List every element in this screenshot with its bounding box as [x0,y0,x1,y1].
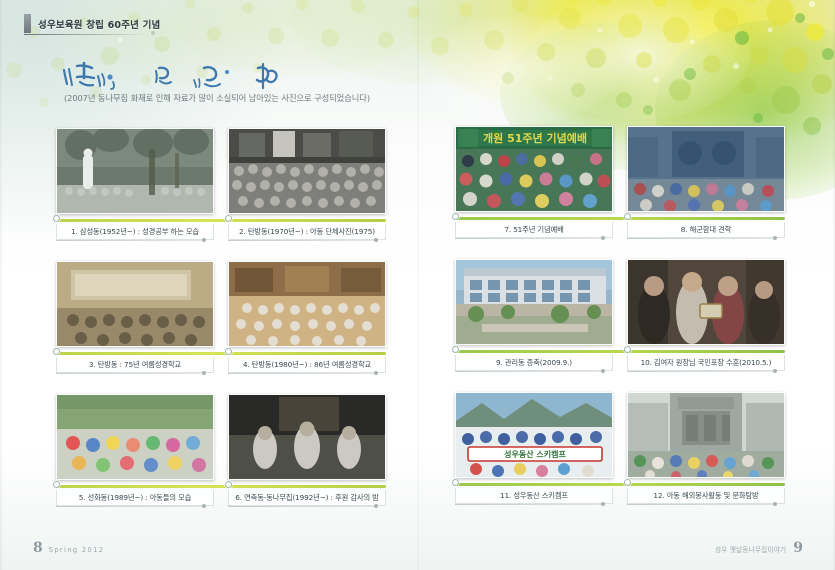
footer-label-left: Spring 2012 [49,546,105,554]
photo-caption: 4. 탄방동(1980년~) : 86년 여름성경학교 [243,360,371,370]
caption-tail-dot-icon [374,371,378,375]
photo-item-5[interactable]: 5. 선화동(1989년~) : 아동들의 모습 [56,394,214,480]
photo-row: 성우동산 스키캠프 11. 성우동산 스키캠프 [455,392,785,525]
timeline-line [56,219,386,222]
header-ribbon-dot-icon [151,31,155,35]
photo-caption: 5. 선화동(1989년~) : 아동들의 모습 [79,493,192,503]
photo-thumbnail[interactable] [56,128,214,214]
page-number-right: 9 [793,540,803,556]
footer-label-right: 성우 옛날동나무집이야기 [715,544,786,554]
caption-tail-line [455,504,603,505]
photo-caption-box: 4. 탄방동(1980년~) : 86년 여름성경학교 [228,357,386,373]
caption-tail-dot-icon [601,236,605,240]
photo-thumbnail[interactable] [627,259,785,345]
caption-tail-line [56,506,204,507]
photo-caption: 10. 김여자 원장님 국민포장 수훈(2010.5.) [641,358,772,368]
header-ribbon: 성우보육원 창립 60주년 기념 [24,14,160,33]
photo-caption-box: 2. 탄방동(1970년~) : 아동 단체사진(1975) [228,224,386,240]
timeline-node-icon [452,346,459,353]
photo-thumbnail[interactable]: 개원 51주년 기념예배 [455,126,613,212]
caption-tail-dot-icon [773,502,777,506]
photo-caption: 6. 연축동-동나무집(1992년~) : 후원 감사의 밤 [235,493,379,503]
photo-caption: 7. 51주년 기념예배 [504,225,563,235]
photo-caption: 8. 해군함대 견학 [681,225,731,235]
photo-item-7[interactable]: 개원 51주년 기념예배 [455,126,613,212]
photo-thumbnail[interactable] [56,394,214,480]
timeline-node-icon [624,346,631,353]
page-number-left: 8 [33,540,43,556]
photo-item-6[interactable]: 6. 연축동-동나무집(1992년~) : 후원 감사의 밤 [228,394,386,480]
timeline-node-icon [624,213,631,220]
timeline-line [455,217,785,220]
timeline-line [56,352,386,355]
timeline-node-icon [624,479,631,486]
photo-caption: 3. 탄방동 : 75년 여름성경학교 [89,360,181,370]
caption-tail-dot-icon [601,369,605,373]
photo-item-12[interactable]: 12. 아동 해외봉사활동 및 문화탐방 [627,392,785,478]
photo-item-10[interactable]: 10. 김여자 원장님 국민포장 수훈(2010.5.) [627,259,785,345]
header-ribbon-underline [24,34,150,35]
photo-item-1[interactable]: 1. 삼성동(1952년~) : 성경공부 하는 모습 [56,128,214,214]
photo-caption-box: 7. 51주년 기념예배 [455,222,613,238]
photo-row: 9. 관리동 증축(2009.9.) [455,259,785,392]
timeline-line [56,485,386,488]
caption-tail-line [455,371,603,372]
timeline-node-icon [53,215,60,222]
timeline-node-icon [225,481,232,488]
timeline-node-icon [225,215,232,222]
photo-caption-box: 12. 아동 해외봉사활동 및 문화탐방 [627,488,785,504]
photo-caption: 9. 관리동 증축(2009.9.) [496,358,572,368]
page-subtitle: (2007년 동나무집 화재로 인해 자료가 많이 소실되어 남아있는 사진으로… [64,92,370,104]
photo-caption-box: 10. 김여자 원장님 국민포장 수훈(2010.5.) [627,355,785,371]
photo-caption-box: 3. 탄방동 : 75년 여름성경학교 [56,357,214,373]
photo-caption-box: 6. 연축동-동나무집(1992년~) : 후원 감사의 밤 [228,490,386,506]
page-title [60,58,300,96]
timeline-node-icon [452,479,459,486]
photo-item-3[interactable]: 3. 탄방동 : 75년 여름성경학교 [56,261,214,347]
timeline-node-icon [225,348,232,355]
caption-tail-dot-icon [202,371,206,375]
photo-thumbnail[interactable] [56,261,214,347]
caption-tail-dot-icon [202,504,206,508]
photo-thumbnail[interactable] [228,394,386,480]
caption-tail-line [627,504,775,505]
photo-thumbnail[interactable] [228,261,386,347]
photo-thumbnail[interactable] [627,392,785,478]
photo-caption: 1. 삼성동(1952년~) : 성경공부 하는 모습 [71,227,199,237]
svg-text:성우동산 스키캠프: 성우동산 스키캠프 [504,449,566,459]
caption-tail-dot-icon [374,238,378,242]
footer-right: 성우 옛날동나무집이야기 9 [715,540,803,556]
photo-item-11[interactable]: 성우동산 스키캠프 11. 성우동산 스키캠프 [455,392,613,478]
caption-tail-line [627,238,775,239]
photo-thumbnail[interactable]: 성우동산 스키캠프 [455,392,613,478]
photo-item-2[interactable]: 2. 탄방동(1970년~) : 아동 단체사진(1975) [228,128,386,214]
caption-tail-line [455,238,603,239]
photo-item-8[interactable]: 8. 해군함대 견학 [627,126,785,212]
photo-caption-box: 8. 해군함대 견학 [627,222,785,238]
timeline-node-icon [452,213,459,220]
photo-thumbnail[interactable] [228,128,386,214]
caption-tail-line [228,373,376,374]
photo-row: 5. 선화동(1989년~) : 아동들의 모습 [56,394,386,527]
photo-caption: 11. 성우동산 스키캠프 [500,491,568,501]
photo-caption-box: 9. 관리동 증축(2009.9.) [455,355,613,371]
photo-item-9[interactable]: 9. 관리동 증축(2009.9.) [455,259,613,345]
photo-thumbnail[interactable] [455,259,613,345]
caption-tail-dot-icon [773,369,777,373]
photo-row: 3. 탄방동 : 75년 여름성경학교 [56,261,386,394]
photo-caption-box: 11. 성우동산 스키캠프 [455,488,613,504]
photo-caption-box: 1. 삼성동(1952년~) : 성경공부 하는 모습 [56,224,214,240]
magazine-spread: 성우보육원 창립 60주년 기념 [0,0,835,570]
timeline-node-icon [53,348,60,355]
timeline-line [455,483,785,486]
caption-tail-line [228,240,376,241]
footer-left: 8 Spring 2012 [33,540,104,556]
caption-tail-line [627,371,775,372]
caption-tail-dot-icon [202,238,206,242]
caption-tail-dot-icon [374,504,378,508]
caption-tail-dot-icon [773,236,777,240]
header-ribbon-label: 성우보육원 창립 60주년 기념 [38,17,160,31]
photo-row: 개원 51주년 기념예배 [455,126,785,259]
photo-caption: 12. 아동 해외봉사활동 및 문화탐방 [653,491,758,501]
photo-row: 1. 삼성동(1952년~) : 성경공부 하는 모습 [56,128,386,261]
ribbon-bar-icon [24,14,31,33]
caption-tail-dot-icon [601,502,605,506]
caption-tail-line [56,240,204,241]
page-edge-left [0,0,3,570]
photo-caption: 2. 탄방동(1970년~) : 아동 단체사진(1975) [239,227,375,237]
photo-item-4[interactable]: 4. 탄방동(1980년~) : 86년 여름성경학교 [228,261,386,347]
photo-caption-box: 5. 선화동(1989년~) : 아동들의 모습 [56,490,214,506]
timeline-node-icon [53,481,60,488]
photo-gallery-right: 개원 51주년 기념예배 [455,126,785,525]
caption-tail-line [228,506,376,507]
photo-thumbnail[interactable] [627,126,785,212]
photo-gallery-left: 1. 삼성동(1952년~) : 성경공부 하는 모습 [56,128,386,527]
timeline-line [455,350,785,353]
caption-tail-line [56,373,204,374]
